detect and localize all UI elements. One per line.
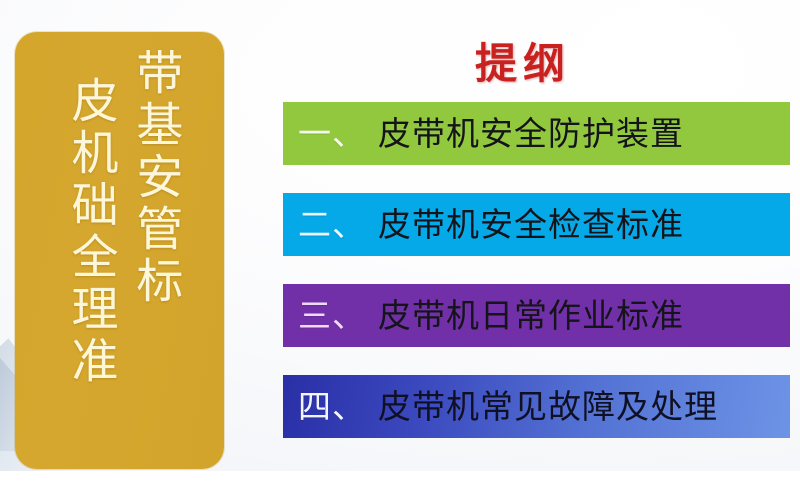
outline-item-3-index: 三、 xyxy=(298,299,366,332)
outline-item-4-label: 皮带机常见故障及处理 xyxy=(378,390,718,423)
outline-item-2[interactable]: 二、 皮带机安全检查标准 xyxy=(283,193,790,256)
outline-item-4-index: 四、 xyxy=(298,390,366,423)
slide-root: 带基安管标 皮机础全理准 提纲 一、 皮带机安全防护装置 二、 皮带机安全检查标… xyxy=(0,0,800,500)
outline-heading: 提纲 xyxy=(398,30,648,91)
outline-list: 一、 皮带机安全防护装置 二、 皮带机安全检查标准 三、 皮带机日常作业标准 四… xyxy=(283,102,790,438)
vertical-title-column-left: 皮机础全理准 xyxy=(57,76,122,388)
outline-item-4[interactable]: 四、 皮带机常见故障及处理 xyxy=(283,375,790,438)
outline-item-1-index: 一、 xyxy=(298,117,366,150)
bottom-white-strip xyxy=(0,471,800,500)
outline-item-1[interactable]: 一、 皮带机安全防护装置 xyxy=(283,102,790,165)
slide-canvas: 带基安管标 皮机础全理准 提纲 一、 皮带机安全防护装置 二、 皮带机安全检查标… xyxy=(0,0,800,471)
outline-item-2-label: 皮带机安全检查标准 xyxy=(378,208,684,241)
vertical-title-column-right: 带基安管标 xyxy=(122,48,187,308)
outline-item-2-index: 二、 xyxy=(298,208,366,241)
outline-item-3-label: 皮带机日常作业标准 xyxy=(378,299,684,332)
outline-item-1-label: 皮带机安全防护装置 xyxy=(378,117,684,150)
outline-item-3[interactable]: 三、 皮带机日常作业标准 xyxy=(283,284,790,347)
vertical-title-panel: 带基安管标 皮机础全理准 xyxy=(15,32,224,469)
